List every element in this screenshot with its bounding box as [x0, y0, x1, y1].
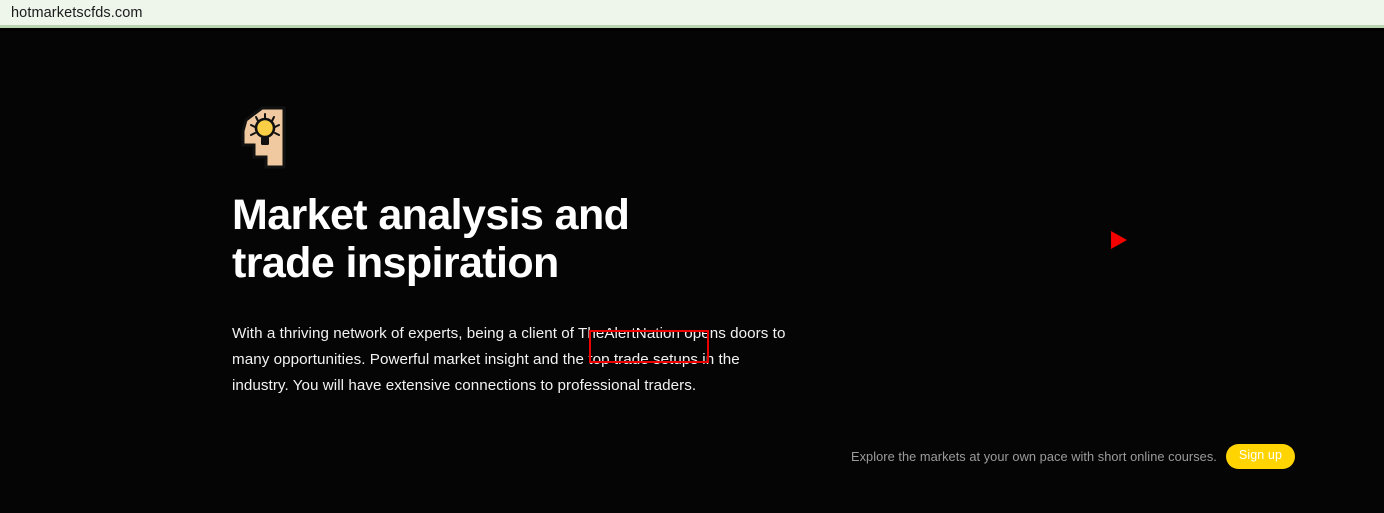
hero-section: Market analysis and trade inspiration Wi… [232, 103, 872, 399]
promo-bar: Explore the markets at your own pace wit… [851, 444, 1295, 469]
promo-text: Explore the markets at your own pace wit… [851, 449, 1217, 464]
red-play-triangle-marker[interactable] [1111, 231, 1127, 249]
sign-up-button[interactable]: Sign up [1226, 444, 1295, 469]
url-text[interactable]: hotmarketscfds.com [0, 5, 143, 21]
browser-url-bar[interactable]: hotmarketscfds.com [0, 0, 1384, 28]
hero-title: Market analysis and trade inspiration [232, 191, 872, 287]
page-canvas: Market analysis and trade inspiration Wi… [0, 31, 1384, 513]
head-lightbulb-icon [232, 103, 294, 169]
hero-paragraph: With a thriving network of experts, bein… [232, 321, 792, 399]
